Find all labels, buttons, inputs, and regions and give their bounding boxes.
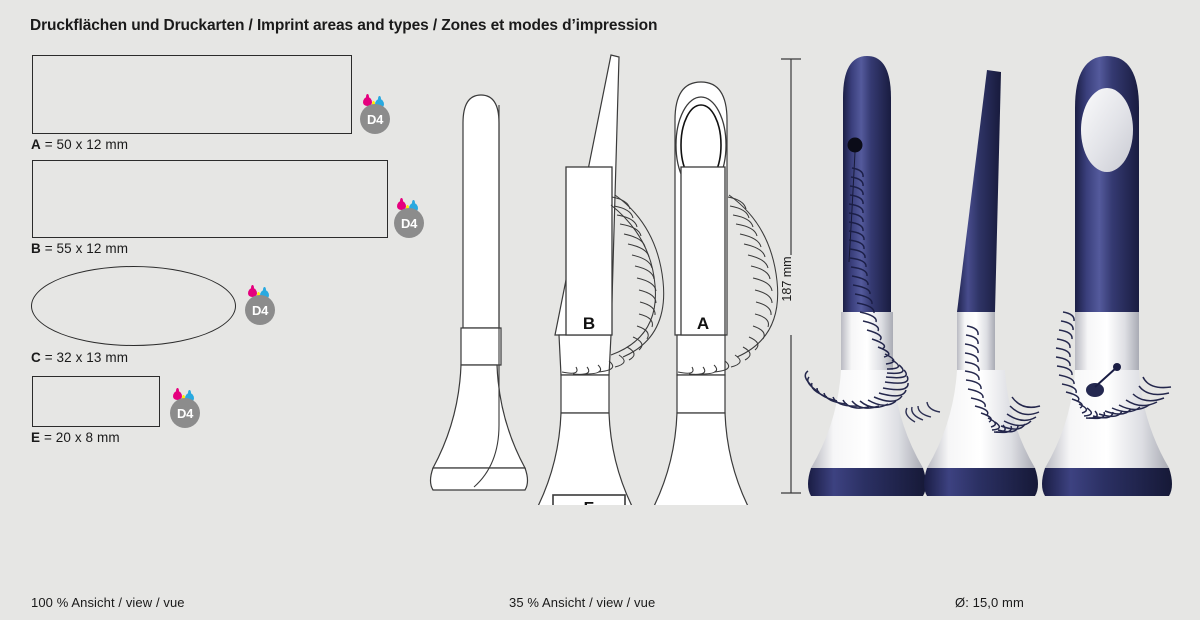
print-method-code-a: D4 — [360, 104, 390, 134]
tech-marker-e: E — [584, 500, 595, 505]
imprint-area-b-shape — [32, 160, 388, 238]
imprint-area-e-shape — [32, 376, 160, 427]
tech-marker-a: A — [697, 314, 709, 333]
dimension-height-label: 187 mm — [780, 249, 794, 309]
cord-port-hole — [848, 138, 863, 153]
imprint-area-b-label: B = 55 x 12 mm — [31, 241, 128, 256]
imprint-area-e-dims: = 20 x 8 mm — [40, 430, 120, 445]
product-render-front — [1042, 56, 1172, 496]
print-method-code-c: D4 — [245, 295, 275, 325]
tech-marker-b: B — [583, 314, 595, 333]
tech-imprint-window-b — [566, 167, 612, 335]
page-title: Druckflächen und Druckarten / Imprint ar… — [30, 17, 657, 35]
imprint-area-e-label: E = 20 x 8 mm — [31, 430, 120, 445]
print-method-badge-e[interactable]: D4 — [170, 388, 200, 428]
imprint-area-b-dims: = 55 x 12 mm — [41, 241, 128, 256]
tech-view-flat-side — [431, 95, 528, 490]
caption-left-scale: 100 % Ansicht / view / vue — [31, 595, 185, 610]
print-method-badge-a[interactable]: D4 — [360, 94, 390, 134]
oval-imprint-plate — [1081, 88, 1133, 172]
imprint-area-a-shape — [32, 55, 352, 134]
imprint-area-e-code: E — [31, 430, 40, 445]
technical-drawings-group: B E — [425, 45, 810, 505]
print-method-badge-b[interactable]: D4 — [394, 198, 424, 238]
imprint-area-c-code: C — [31, 350, 41, 365]
product-renders-group — [795, 40, 1200, 505]
product-render-flat-side — [805, 56, 926, 496]
cord-anchor-knob — [1086, 383, 1104, 397]
print-method-badge-c[interactable]: D4 — [245, 285, 275, 325]
imprint-area-a-code: A — [31, 137, 41, 152]
caption-center-scale: 35 % Ansicht / view / vue — [509, 595, 655, 610]
tech-imprint-window-a — [681, 167, 725, 335]
imprint-area-b-code: B — [31, 241, 41, 256]
sheet-canvas: Druckflächen und Druckarten / Imprint ar… — [0, 0, 1200, 620]
imprint-area-c-dims: = 32 x 13 mm — [41, 350, 128, 365]
imprint-area-a-dims: = 50 x 12 mm — [41, 137, 128, 152]
imprint-area-c-label: C = 32 x 13 mm — [31, 350, 128, 365]
imprint-area-c-shape — [31, 266, 236, 346]
print-method-code-b: D4 — [394, 208, 424, 238]
caption-right-diameter: Ø: 15,0 mm — [955, 595, 1024, 610]
product-render-edge-wedge — [906, 70, 1040, 496]
imprint-area-a-label: A = 50 x 12 mm — [31, 137, 128, 152]
print-method-code-e: D4 — [170, 398, 200, 428]
